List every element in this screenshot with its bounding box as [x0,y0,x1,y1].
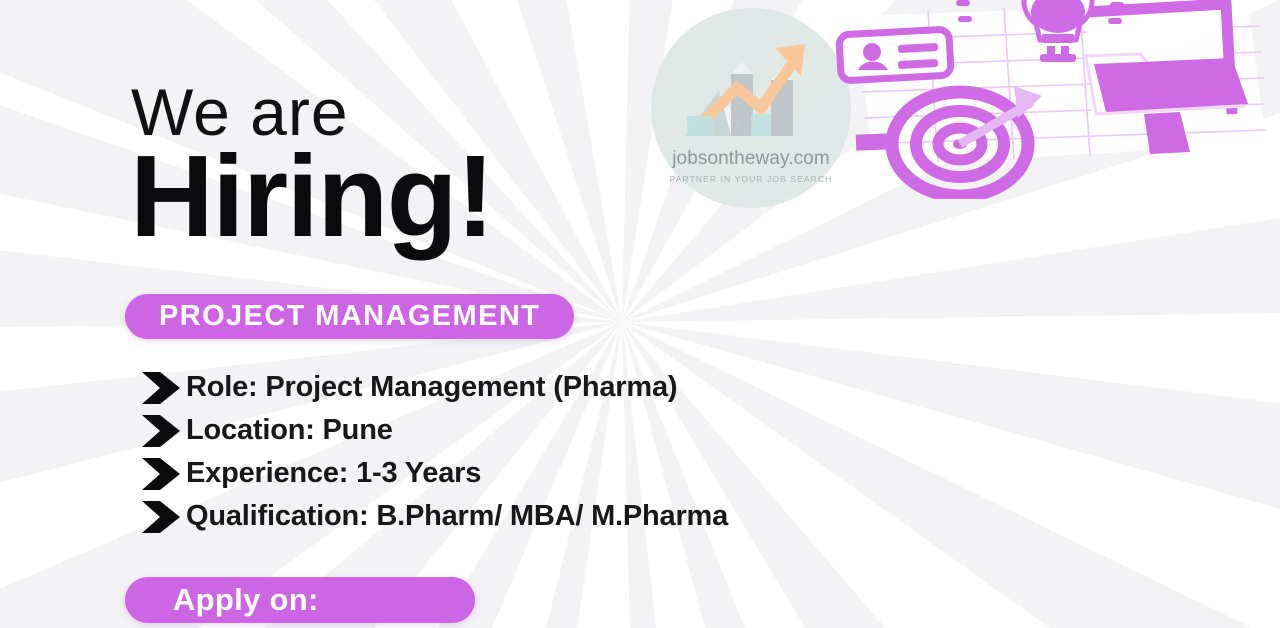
logo-tagline: PARTNER IN YOUR JOB SEARCH [651,174,851,184]
chevron-right-icon [138,499,186,535]
list-item: Experience: 1-3 Years [138,452,1158,495]
list-item: Qualification: B.Pharm/ MBA/ M.Pharma [138,495,1158,538]
id-card-icon [839,29,951,81]
hiring-poster: jobsontheway.com PARTNER IN YOUR JOB SEA… [0,0,1280,628]
chevron-right-icon [138,413,186,449]
list-item: Location: Pune [138,409,1158,452]
chevron-right-icon [138,370,186,406]
role-badge: PROJECT MANAGEMENT [125,294,574,339]
apply-button[interactable]: Apply on: [125,577,475,623]
detail-label: Qualification: B.Pharm/ MBA/ M.Pharma [186,500,728,533]
detail-label: Location: Pune [186,414,393,447]
growth-chart-icon [679,38,824,143]
list-item: Role: Project Management (Pharma) [138,366,1158,409]
chevron-right-icon [138,456,186,492]
job-details-list: Role: Project Management (Pharma) Locati… [138,366,1158,538]
logo-name: jobsontheway.com [651,148,851,170]
apply-button-label: Apply on: [173,582,319,618]
logo-watermark: jobsontheway.com PARTNER IN YOUR JOB SEA… [651,8,851,208]
folder-icon [1086,54,1248,114]
detail-label: Experience: 1-3 Years [186,457,481,490]
headline-large: Hiring! [130,138,493,254]
role-badge-label: PROJECT MANAGEMENT [159,300,540,333]
office-illustration [828,0,1280,199]
detail-label: Role: Project Management (Pharma) [186,371,677,404]
